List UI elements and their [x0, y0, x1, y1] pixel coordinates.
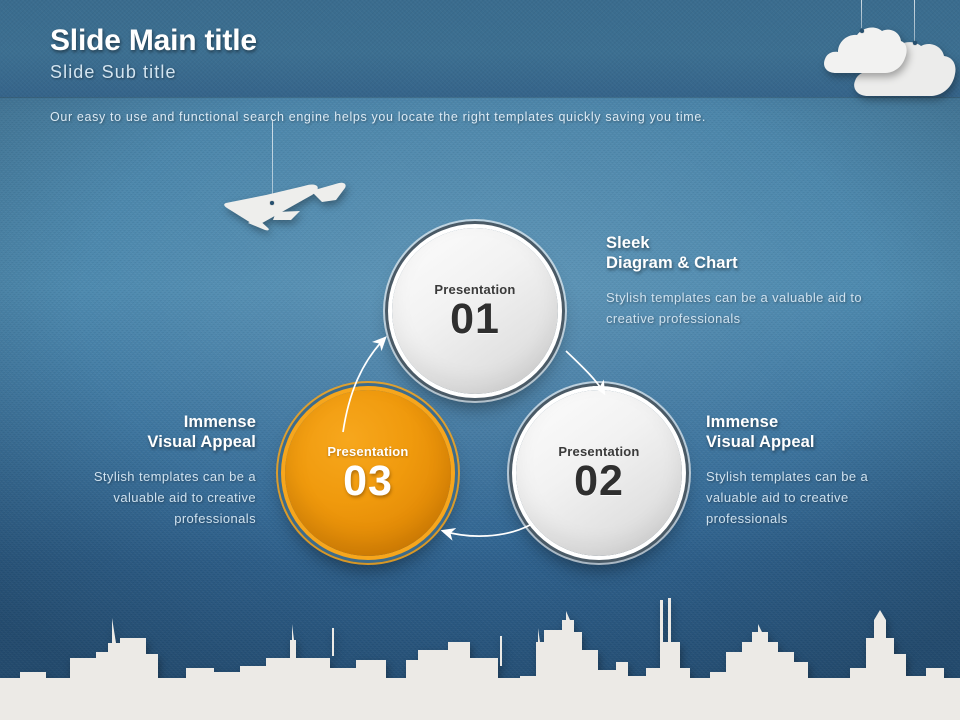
block-03-body: Stylish templates can be a valuable aid …: [56, 466, 256, 529]
city-skyline-icon: [0, 580, 960, 720]
airplane-icon: [218, 182, 348, 234]
cloud-a-string: [861, 0, 862, 28]
diagram-node-01[interactable]: Presentation 01: [392, 228, 558, 394]
node-03-outer-ring: [276, 381, 460, 565]
intro-paragraph: Our easy to use and functional search en…: [50, 110, 706, 124]
block-01-heading-line2: Diagram & Chart: [606, 254, 738, 272]
block-03-heading-line1: Immense: [184, 413, 256, 431]
block-03-heading-line2: Visual Appeal: [147, 433, 256, 451]
content-block-01: Sleek Diagram & Chart Stylish templates …: [606, 233, 906, 329]
node-01-outer-ring: [383, 219, 567, 403]
diagram-node-02[interactable]: Presentation 02: [516, 390, 682, 556]
cloud-b-pin: [913, 41, 917, 45]
slide-canvas: Slide Main title Slide Sub title Our eas…: [0, 0, 960, 720]
page-title: Slide Main title: [50, 24, 257, 58]
block-01-heading: Sleek Diagram & Chart: [606, 233, 906, 273]
arrow-icon: [443, 525, 530, 536]
block-03-heading: Immense Visual Appeal: [56, 412, 256, 452]
block-02-body: Stylish templates can be a valuable aid …: [706, 466, 906, 529]
cloud-b-string: [914, 0, 915, 42]
cloud-icon: [822, 25, 908, 77]
content-block-02: Immense Visual Appeal Stylish templates …: [706, 412, 906, 529]
block-01-heading-line1: Sleek: [606, 234, 650, 252]
block-02-heading-line1: Immense: [706, 413, 778, 431]
block-02-heading: Immense Visual Appeal: [706, 412, 906, 452]
plane-pin: [270, 201, 274, 205]
node-02-outer-ring: [507, 381, 691, 565]
block-01-body: Stylish templates can be a valuable aid …: [606, 287, 906, 329]
diagram-node-03[interactable]: Presentation 03: [285, 390, 451, 556]
cloud-a-pin: [860, 29, 864, 33]
content-block-03: Immense Visual Appeal Stylish templates …: [56, 412, 256, 529]
block-02-heading-line2: Visual Appeal: [706, 433, 815, 451]
page-subtitle: Slide Sub title: [50, 62, 177, 83]
